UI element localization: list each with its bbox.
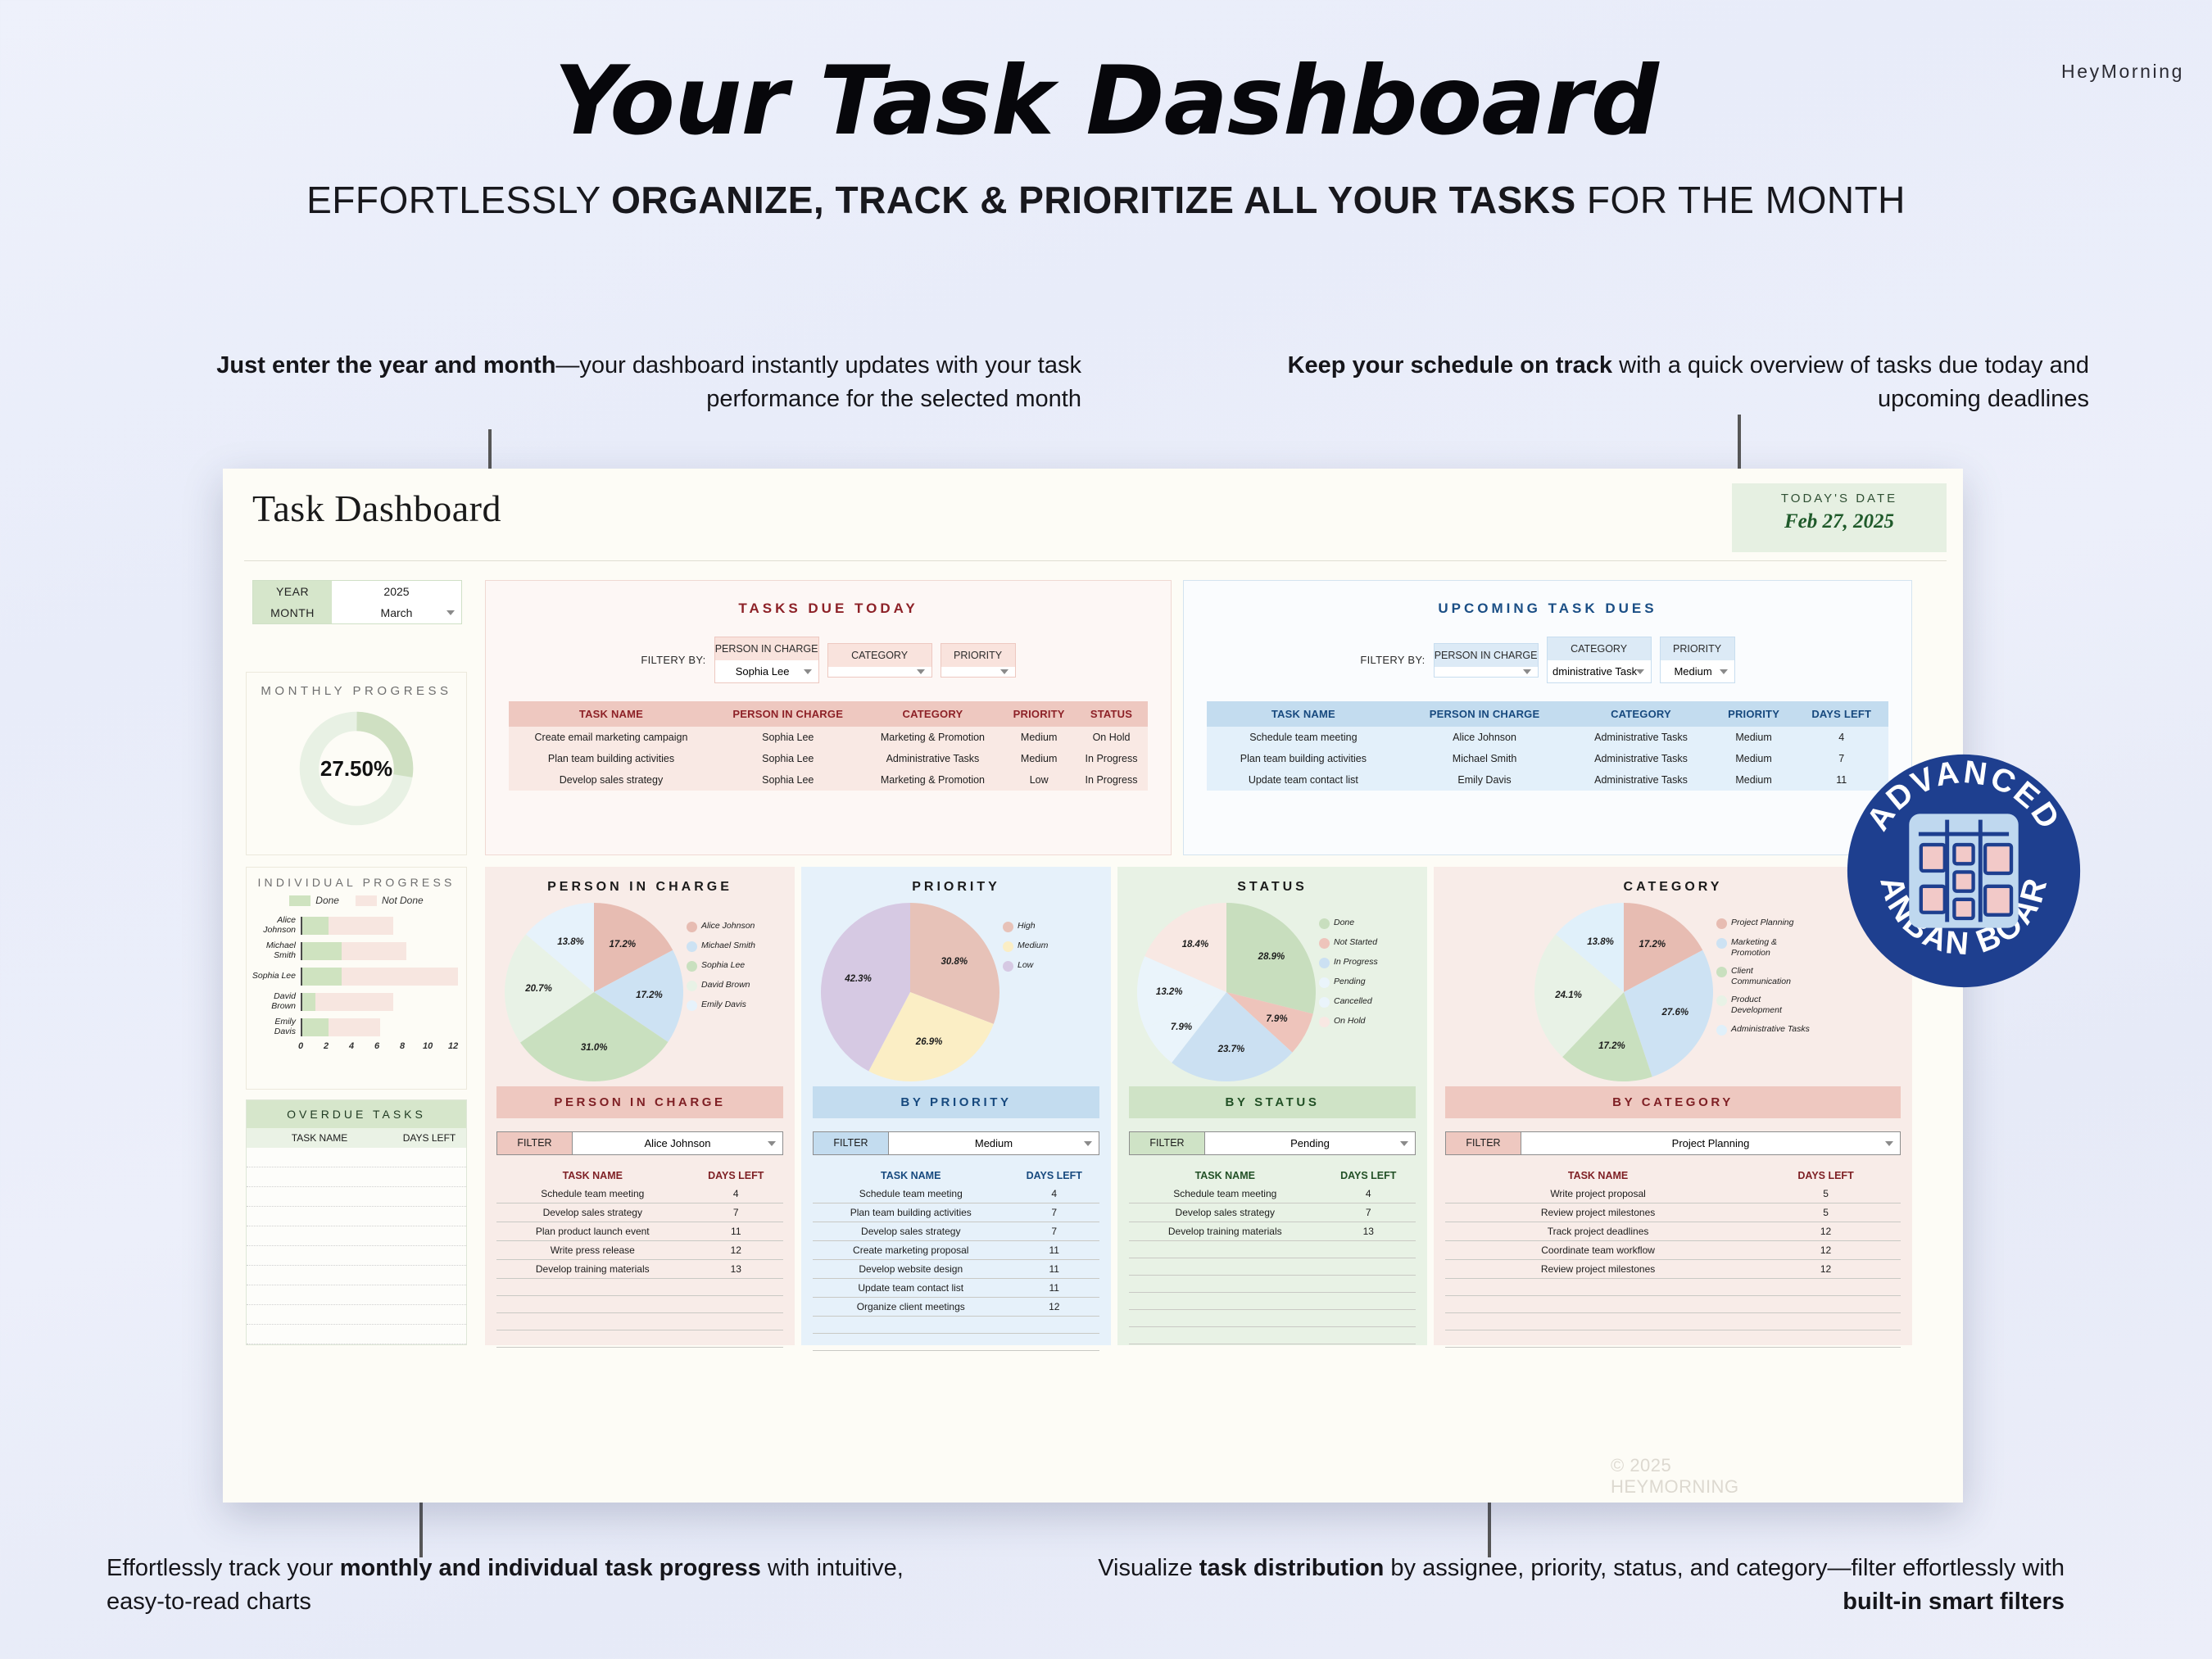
- individual-progress-card: INDIVIDUAL PROGRESS Done Not Done AliceJ…: [246, 867, 467, 1090]
- overdue-empty-row: [247, 1325, 466, 1344]
- status-filter-select[interactable]: Pending: [1205, 1132, 1415, 1154]
- upcoming-task-dues-table: TASK NAMEPERSON IN CHARGECATEGORYPRIORIT…: [1207, 701, 1888, 791]
- table-cell: Medium: [1003, 748, 1075, 769]
- status-tasks-table: TASK NAMEDAYS LEFTSchedule team meeting4…: [1129, 1167, 1416, 1344]
- pie-title-category: CATEGORY: [1434, 867, 1912, 895]
- pie-title-person: PERSON IN CHARGE: [485, 867, 795, 895]
- table-row-empty: [496, 1313, 783, 1330]
- table-cell: Marketing & Promotion: [863, 727, 1004, 748]
- dashboard-title: Task Dashboard: [223, 469, 1963, 530]
- legend-label: Not Started: [1334, 937, 1377, 948]
- table-row: Track project deadlines12: [1445, 1222, 1901, 1241]
- legend-item: In Progress: [1319, 957, 1407, 968]
- monthly-progress-value: 27.50%: [294, 706, 419, 831]
- table-cell: Plan team building activities: [813, 1203, 1009, 1222]
- person-tasks-table: TASK NAMEDAYS LEFTSchedule team meeting4…: [496, 1167, 783, 1348]
- upcoming-task-dues-card: UPCOMING TASK DUES FILTERY BY: PERSON IN…: [1183, 580, 1912, 855]
- tasks-due-today-table: TASK NAMEPERSON IN CHARGECATEGORYPRIORIT…: [509, 701, 1148, 791]
- overdue-tasks-card: OVERDUE TASKS TASK NAME DAYS LEFT: [246, 1099, 467, 1345]
- category-card: CATEGORY 17.2%27.6%17.2%24.1%13.8% Proje…: [1434, 867, 1912, 1345]
- column-header: PRIORITY: [1713, 701, 1795, 727]
- table-cell: Schedule team meeting: [1129, 1185, 1321, 1203]
- overdue-columns: TASK NAME DAYS LEFT: [247, 1128, 466, 1148]
- table-row: Develop training materials13: [1129, 1222, 1416, 1241]
- legend-item: Project Planning: [1716, 918, 1811, 929]
- legend-item: On Hold: [1319, 1016, 1407, 1027]
- overdue-empty-row: [247, 1148, 466, 1167]
- axis-tick: 6: [374, 1041, 379, 1051]
- bar-segment-done: [302, 917, 329, 935]
- upcoming-filter-person[interactable]: PERSON IN CHARGE: [1434, 643, 1539, 678]
- table-row-empty: [496, 1330, 783, 1348]
- todays-date-box: TODAY'S DATE Feb 27, 2025: [1732, 483, 1947, 552]
- legend-label: David Brown: [701, 980, 750, 990]
- callout-top-left-rest: —your dashboard instantly updates with y…: [555, 352, 1081, 412]
- due-today-filter-person[interactable]: PERSON IN CHARGE Sophia Lee: [714, 637, 819, 683]
- column-header: PERSON IN CHARGE: [714, 701, 863, 727]
- table-cell: Develop sales strategy: [1129, 1203, 1321, 1222]
- pie-data-label: 42.3%: [845, 974, 872, 984]
- table-cell: Develop website design: [813, 1260, 1009, 1279]
- table-cell: 12: [1009, 1298, 1100, 1317]
- overdue-empty-row: [247, 1207, 466, 1226]
- overdue-empty-rows: [247, 1148, 466, 1344]
- column-header: CATEGORY: [1569, 701, 1712, 727]
- brand-logo: HeyMorning: [2061, 61, 2184, 83]
- table-cell: Coordinate team workflow: [1445, 1241, 1751, 1260]
- table-row: Review project milestones12: [1445, 1260, 1901, 1279]
- table-row: Update team contact list11: [813, 1279, 1099, 1298]
- upcoming-filter-priority[interactable]: PRIORITY Medium: [1660, 637, 1735, 683]
- legend-done: Done: [289, 895, 339, 906]
- table-cell: Update team contact list: [1207, 769, 1400, 791]
- pie-data-label: 20.7%: [525, 984, 552, 994]
- year-input[interactable]: 2025: [332, 581, 461, 602]
- priority-filter-label: FILTER: [814, 1132, 889, 1154]
- legend-item: Done: [1319, 918, 1407, 929]
- person-filter-select[interactable]: Alice Johnson: [573, 1132, 782, 1154]
- table-row: Develop website design11: [813, 1260, 1099, 1279]
- table-cell: Emily Davis: [1400, 769, 1570, 791]
- table-row-empty: [813, 1317, 1099, 1334]
- table-cell: 11: [1009, 1241, 1100, 1260]
- category-pie-area: 17.2%27.6%17.2%24.1%13.8% Project Planni…: [1434, 903, 1912, 1081]
- legend-label: High: [1018, 921, 1036, 931]
- table-row-empty: [1445, 1330, 1901, 1348]
- chevron-down-icon: [1885, 1141, 1893, 1146]
- table-cell: Write project proposal: [1445, 1185, 1751, 1203]
- category-section-header: BY CATEGORY: [1445, 1086, 1901, 1118]
- table-cell: 7: [1009, 1203, 1100, 1222]
- table-row: Schedule team meeting4: [1129, 1185, 1416, 1203]
- overdue-title: OVERDUE TASKS: [247, 1100, 466, 1128]
- table-cell: 11: [689, 1222, 783, 1241]
- callout-bl-pre: Effortlessly track your: [107, 1555, 340, 1581]
- table-cell: Sophia Lee: [714, 769, 863, 791]
- bar-track: [301, 993, 458, 1011]
- pie-data-label: 31.0%: [581, 1043, 608, 1053]
- due-today-filter-category[interactable]: CATEGORY: [827, 643, 932, 678]
- upcoming-filter-category[interactable]: CATEGORY dministrative Task: [1547, 637, 1652, 683]
- bar-label: DavidBrown: [252, 992, 301, 1011]
- callout-bottom-left: Effortlessly track your monthly and indi…: [107, 1552, 926, 1619]
- table-cell: 12: [1751, 1241, 1901, 1260]
- legend-item: Sophia Lee: [687, 960, 775, 972]
- legend-label: Low: [1018, 960, 1033, 971]
- table-row: Develop sales strategy7: [813, 1222, 1099, 1241]
- table-cell: Develop sales strategy: [813, 1222, 1009, 1241]
- pie-data-label: 13.8%: [557, 937, 584, 947]
- bar-segment-done: [302, 942, 342, 960]
- table-cell: Michael Smith: [1400, 748, 1570, 769]
- advanced-kanban-board-badge: ADVANCED KANBAN BOARD: [1845, 752, 2083, 990]
- subtitle-post: FOR THE MONTH: [1576, 179, 1906, 221]
- column-header: DAYS LEFT: [1794, 701, 1888, 727]
- person-filter-label: FILTER: [497, 1132, 573, 1154]
- priority-pie-legend: HighMediumLow: [1003, 903, 1091, 980]
- table-cell: 12: [689, 1241, 783, 1260]
- table-cell: 13: [1321, 1222, 1416, 1241]
- status-pie: 28.9%7.9%23.7%7.9%13.2%18.4%: [1137, 903, 1316, 1081]
- table-cell: 5: [1751, 1185, 1901, 1203]
- table-row: Develop sales strategySophia LeeMarketin…: [509, 769, 1148, 791]
- individual-progress-axis: 024681012: [301, 1041, 458, 1054]
- category-pie-legend: Project PlanningMarketing & PromotionCli…: [1716, 903, 1811, 1044]
- person-pie-legend: Alice JohnsonMichael SmithSophia LeeDavi…: [687, 903, 775, 1019]
- callout-br-bold: task distribution: [1199, 1555, 1385, 1581]
- kanban-badge-svg: ADVANCED KANBAN BOARD: [1845, 752, 2083, 990]
- callout-top-left-bold: Just enter the year and month: [216, 352, 555, 378]
- table-cell: Track project deadlines: [1445, 1222, 1751, 1241]
- monthly-progress-title: MONTHLY PROGRESS: [247, 673, 466, 698]
- table-cell: Sophia Lee: [714, 727, 863, 748]
- table-row-empty: [1129, 1276, 1416, 1293]
- table-cell: Create marketing proposal: [813, 1241, 1009, 1260]
- table-row: Update team contact listEmily DavisAdmin…: [1207, 769, 1888, 791]
- status-pie-area: 28.9%7.9%23.7%7.9%13.2%18.4% DoneNot Sta…: [1117, 903, 1427, 1081]
- legend-item: Emily Davis: [687, 999, 775, 1011]
- status-filter-label: FILTER: [1130, 1132, 1205, 1154]
- column-header: TASK NAME: [1129, 1167, 1321, 1185]
- legend-item: Low: [1003, 960, 1091, 972]
- legend-item: Administrative Tasks: [1716, 1024, 1811, 1036]
- table-cell: 4: [1794, 727, 1888, 748]
- upcoming-title: UPCOMING TASK DUES: [1184, 581, 1911, 617]
- table-cell: Schedule team meeting: [813, 1185, 1009, 1203]
- bar-track: [301, 968, 458, 986]
- pie-data-label: 24.1%: [1555, 990, 1582, 1000]
- bar-segment-done: [302, 993, 315, 1011]
- callout-bl-bold: monthly and individual task progress: [340, 1555, 761, 1581]
- chevron-down-icon: [1400, 1141, 1408, 1146]
- axis-tick: 4: [349, 1041, 354, 1051]
- legend-label: Marketing & Promotion: [1731, 937, 1811, 958]
- callout-br-mid: by assignee, priority, status, and categ…: [1384, 1555, 2065, 1581]
- table-row: Organize client meetings12: [813, 1298, 1099, 1317]
- bar-row: Emily Davis: [252, 1014, 458, 1040]
- column-header: STATUS: [1075, 701, 1148, 727]
- chevron-down-icon: [1523, 669, 1531, 674]
- bar-track: [301, 1018, 458, 1036]
- table-cell: Medium: [1713, 748, 1795, 769]
- person-filter-row[interactable]: FILTER Alice Johnson: [496, 1131, 783, 1155]
- status-pie-legend: DoneNot StartedIn ProgressPendingCancell…: [1319, 903, 1407, 1036]
- axis-tick: 8: [400, 1041, 405, 1051]
- table-row-empty: [1445, 1313, 1901, 1330]
- legend-label: Pending: [1334, 977, 1366, 987]
- table-row: Schedule team meeting4: [496, 1185, 783, 1203]
- legend-not-done: Not Done: [356, 895, 424, 906]
- legend-label: Done: [1334, 918, 1354, 928]
- column-header: TASK NAME: [1207, 701, 1400, 727]
- page-subtitle: EFFORTLESSLY ORGANIZE, TRACK & PRIORITIZ…: [0, 178, 2212, 222]
- column-header: TASK NAME: [1445, 1167, 1751, 1185]
- table-cell: Develop training materials: [1129, 1222, 1321, 1241]
- individual-progress-bars: AliceJohnson MichaelSmith Sophia Lee Dav…: [252, 913, 458, 1040]
- tasks-due-today-title: TASKS DUE TODAY: [486, 581, 1171, 617]
- legend-label: Administrative Tasks: [1731, 1024, 1810, 1035]
- priority-card: PRIORITY 30.8%26.9%42.3% HighMediumLow ©…: [801, 867, 1111, 1345]
- table-row: Develop sales strategy7: [1129, 1203, 1416, 1222]
- table-cell: Create email marketing campaign: [509, 727, 714, 748]
- legend-label: Medium: [1018, 941, 1048, 951]
- table-row: Create email marketing campaignSophia Le…: [509, 727, 1148, 748]
- table-cell: 4: [689, 1185, 783, 1203]
- priority-pie: 30.8%26.9%42.3%: [821, 903, 999, 1081]
- column-header: DAYS LEFT: [1321, 1167, 1416, 1185]
- pie-data-label: 7.9%: [1171, 1022, 1192, 1032]
- callout-top-right-rest: with a quick overview of tasks due today…: [1612, 352, 2089, 412]
- bar-label: Emily Davis: [252, 1018, 301, 1036]
- legend-item: Pending: [1319, 977, 1407, 988]
- table-cell: Plan product launch event: [496, 1222, 689, 1241]
- year-value: 2025: [383, 585, 409, 598]
- todays-date-label: TODAY'S DATE: [1732, 492, 1947, 505]
- chevron-down-icon: [917, 669, 925, 674]
- legend-label: Project Planning: [1731, 918, 1793, 928]
- pie-data-label: 7.9%: [1266, 1014, 1287, 1024]
- axis-tick: 12: [448, 1041, 458, 1051]
- table-row-empty: [1129, 1293, 1416, 1310]
- chevron-down-icon: [804, 669, 812, 674]
- overdue-empty-row: [247, 1266, 466, 1285]
- header-divider: [244, 560, 1947, 561]
- priority-filter-select[interactable]: Medium: [889, 1132, 1099, 1154]
- overdue-empty-row: [247, 1246, 466, 1266]
- pie-data-label: 17.2%: [1639, 940, 1666, 950]
- column-header: DAYS LEFT: [1009, 1167, 1100, 1185]
- year-label: YEAR: [253, 581, 332, 602]
- tasks-due-today-card: TASKS DUE TODAY FILTERY BY: PERSON IN CH…: [485, 580, 1172, 855]
- category-filter-row[interactable]: FILTER Project Planning: [1445, 1131, 1901, 1155]
- column-header: DAYS LEFT: [1751, 1167, 1901, 1185]
- pie-data-label: 30.8%: [941, 957, 968, 967]
- table-cell: 7: [1009, 1222, 1100, 1241]
- upcoming-filter-label: FILTERY BY:: [1360, 654, 1425, 666]
- chevron-down-icon: [1000, 669, 1009, 674]
- priority-pie-area: 30.8%26.9%42.3% HighMediumLow: [801, 903, 1111, 1081]
- chevron-down-icon: [446, 610, 455, 615]
- bar-row: MichaelSmith: [252, 938, 458, 963]
- legend-item: Marketing & Promotion: [1716, 937, 1811, 958]
- table-row-empty: [1445, 1296, 1901, 1313]
- month-select[interactable]: March: [332, 602, 461, 623]
- axis-tick: 2: [324, 1041, 329, 1051]
- table-row-empty: [1129, 1327, 1416, 1344]
- person-in-charge-card: PERSON IN CHARGE 17.2%17.2%31.0%20.7%13.…: [485, 867, 795, 1345]
- watermark: © 2025 HEYMORNING: [1611, 1455, 1739, 1498]
- pie-title-status: STATUS: [1117, 867, 1427, 895]
- table-row: Develop sales strategy7: [496, 1203, 783, 1222]
- column-header: PERSON IN CHARGE: [1400, 701, 1570, 727]
- individual-progress-title: INDIVIDUAL PROGRESS: [247, 868, 466, 889]
- bar-track: [301, 942, 458, 960]
- legend-label: Cancelled: [1334, 996, 1372, 1007]
- bar-label: Sophia Lee: [252, 972, 301, 981]
- table-cell: 7: [1321, 1203, 1416, 1222]
- bar-row: Sophia Lee: [252, 963, 458, 989]
- table-cell: Schedule team meeting: [496, 1185, 689, 1203]
- status-filter-row[interactable]: FILTER Pending: [1129, 1131, 1416, 1155]
- legend-item: Cancelled: [1319, 996, 1407, 1008]
- table-row: Develop training materials13: [496, 1260, 783, 1279]
- person-pie-area: 17.2%17.2%31.0%20.7%13.8% Alice JohnsonM…: [485, 903, 795, 1081]
- category-filter-select[interactable]: Project Planning: [1521, 1132, 1900, 1154]
- table-row-empty: [1445, 1279, 1901, 1296]
- table-row: Plan product launch event11: [496, 1222, 783, 1241]
- pie-data-label: 17.2%: [609, 940, 636, 950]
- table-cell: Write press release: [496, 1241, 689, 1260]
- table-row: Plan team building activities7: [813, 1203, 1099, 1222]
- upcoming-filter-bar: FILTERY BY: PERSON IN CHARGE CATEGORY dm…: [1184, 637, 1911, 683]
- table-cell: Review project milestones: [1445, 1203, 1751, 1222]
- table-cell: Sophia Lee: [714, 748, 863, 769]
- pie-data-label: 13.8%: [1587, 937, 1614, 947]
- table-cell: Medium: [1713, 727, 1795, 748]
- legend-label: In Progress: [1334, 957, 1378, 968]
- category-pie: 17.2%27.6%17.2%24.1%13.8%: [1534, 903, 1713, 1081]
- table-cell: Low: [1003, 769, 1075, 791]
- todays-date-value: Feb 27, 2025: [1732, 510, 1947, 533]
- pie-data-label: 17.2%: [1598, 1041, 1625, 1051]
- overdue-empty-row: [247, 1305, 466, 1325]
- table-cell: Organize client meetings: [813, 1298, 1009, 1317]
- bar-label: MichaelSmith: [252, 941, 301, 960]
- overdue-empty-row: [247, 1285, 466, 1305]
- table-cell: Administrative Tasks: [863, 748, 1004, 769]
- bar-label: AliceJohnson: [252, 916, 301, 935]
- table-cell: Administrative Tasks: [1569, 769, 1712, 791]
- table-row: Write project proposal5: [1445, 1185, 1901, 1203]
- table-cell: 7: [689, 1203, 783, 1222]
- monthly-progress-donut: 27.50%: [294, 706, 419, 831]
- table-cell: Plan team building activities: [509, 748, 714, 769]
- person-section-header: PERSON IN CHARGE: [496, 1086, 783, 1118]
- pie-data-label: 17.2%: [636, 990, 663, 1000]
- table-cell: 13: [689, 1260, 783, 1279]
- column-header: CATEGORY: [863, 701, 1004, 727]
- table-cell: In Progress: [1075, 769, 1148, 791]
- legend-label: Alice Johnson: [701, 921, 755, 931]
- axis-tick: 0: [298, 1041, 303, 1051]
- monthly-progress-card: MONTHLY PROGRESS 27.50%: [246, 672, 467, 855]
- table-row: Review project milestones5: [1445, 1203, 1901, 1222]
- pie-data-label: 28.9%: [1258, 952, 1285, 962]
- legend-item: Medium: [1003, 941, 1091, 952]
- table-row-empty: [813, 1334, 1099, 1351]
- table-row-empty: [496, 1296, 783, 1313]
- legend-item: Not Started: [1319, 937, 1407, 949]
- legend-item: Michael Smith: [687, 941, 775, 952]
- table-row-empty: [496, 1279, 783, 1296]
- overdue-col-days: DAYS LEFT: [392, 1128, 466, 1148]
- table-cell: 4: [1321, 1185, 1416, 1203]
- chevron-down-icon: [1720, 669, 1728, 674]
- pie-data-label: 13.2%: [1156, 987, 1183, 997]
- table-cell: Develop training materials: [496, 1260, 689, 1279]
- table-cell: Schedule team meeting: [1207, 727, 1400, 748]
- table-cell: Plan team building activities: [1207, 748, 1400, 769]
- page-title: Your Task Dashboard: [0, 46, 2212, 156]
- column-header: TASK NAME: [509, 701, 714, 727]
- overdue-empty-row: [247, 1226, 466, 1246]
- bar-segment-not-done: [302, 993, 393, 1011]
- status-card: STATUS 28.9%7.9%23.7%7.9%13.2%18.4% Done…: [1117, 867, 1427, 1345]
- table-row: Plan team building activitiesSophia LeeA…: [509, 748, 1148, 769]
- due-today-filter-priority[interactable]: PRIORITY: [941, 643, 1016, 678]
- column-header: DAYS LEFT: [689, 1167, 783, 1185]
- individual-progress-legend: Done Not Done: [247, 895, 466, 906]
- table-cell: 12: [1751, 1260, 1901, 1279]
- table-cell: Administrative Tasks: [1569, 727, 1712, 748]
- table-cell: Develop sales strategy: [496, 1203, 689, 1222]
- callout-top-right: Keep your schedule on track with a quick…: [1180, 349, 2089, 416]
- bar-row: AliceJohnson: [252, 913, 458, 938]
- overdue-empty-row: [247, 1167, 466, 1187]
- table-row-empty: [1129, 1310, 1416, 1327]
- bar-segment-done: [302, 1018, 329, 1036]
- legend-label: Emily Davis: [701, 999, 746, 1010]
- priority-filter-row[interactable]: FILTER Medium: [813, 1131, 1099, 1155]
- table-row-empty: [1129, 1241, 1416, 1258]
- legend-item: Alice Johnson: [687, 921, 775, 932]
- overdue-empty-row: [247, 1187, 466, 1207]
- table-cell: Update team contact list: [813, 1279, 1009, 1298]
- table-cell: Alice Johnson: [1400, 727, 1570, 748]
- person-pie: 17.2%17.2%31.0%20.7%13.8%: [505, 903, 683, 1081]
- column-header: TASK NAME: [813, 1167, 1009, 1185]
- table-cell: Medium: [1003, 727, 1075, 748]
- bar-track: [301, 917, 458, 935]
- priority-section-header: BY PRIORITY: [813, 1086, 1099, 1118]
- chevron-down-icon: [1636, 669, 1644, 674]
- table-cell: In Progress: [1075, 748, 1148, 769]
- table-row: Coordinate team workflow12: [1445, 1241, 1901, 1260]
- chevron-down-icon: [768, 1141, 776, 1146]
- table-cell: Marketing & Promotion: [863, 769, 1004, 791]
- bar-row: DavidBrown: [252, 989, 458, 1014]
- pie-title-priority: PRIORITY: [801, 867, 1111, 895]
- category-filter-label: FILTER: [1446, 1132, 1521, 1154]
- callout-top-left: Just enter the year and month—your dashb…: [164, 349, 1081, 416]
- legend-label: Michael Smith: [701, 941, 755, 951]
- table-cell: Develop sales strategy: [509, 769, 714, 791]
- overdue-col-task: TASK NAME: [247, 1128, 392, 1148]
- column-header: TASK NAME: [496, 1167, 689, 1185]
- legend-item: David Brown: [687, 980, 775, 991]
- pie-data-label: 23.7%: [1218, 1045, 1245, 1054]
- category-tasks-table: TASK NAMEDAYS LEFTWrite project proposal…: [1445, 1167, 1901, 1348]
